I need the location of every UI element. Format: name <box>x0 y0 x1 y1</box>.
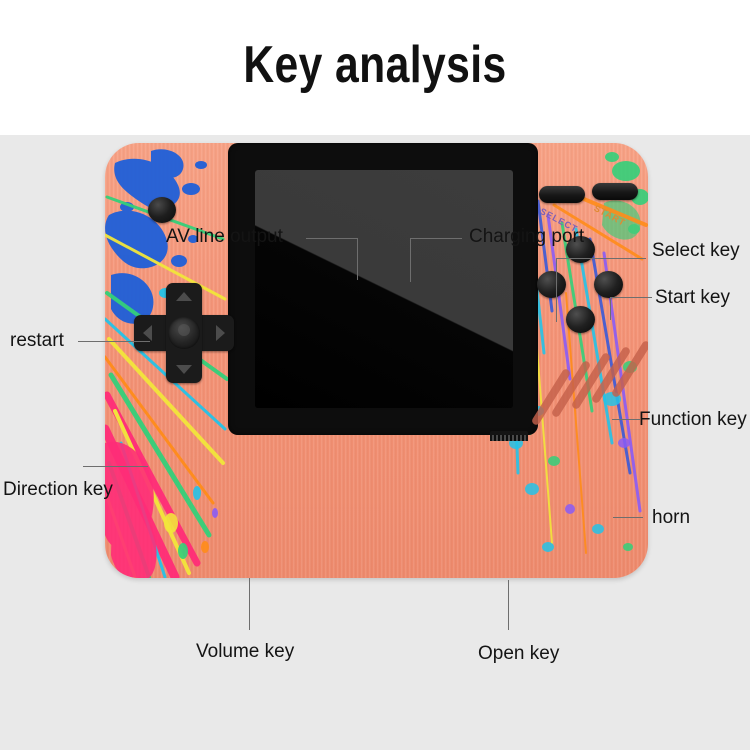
callout-direction-key: Direction key <box>3 480 113 499</box>
leader-open-key-vertical <box>508 580 509 630</box>
function-key-bottom[interactable] <box>566 306 595 333</box>
header-band: Key analysis <box>0 0 750 135</box>
page-title: Key analysis <box>68 38 683 93</box>
start-key-button[interactable] <box>592 183 638 200</box>
dpad-left-arrow-icon[interactable] <box>143 325 152 341</box>
function-key-right[interactable] <box>594 271 623 298</box>
leader-direction-key-horizontal <box>83 466 148 467</box>
leader-start-key-vertical <box>610 297 611 320</box>
callout-open-key: Open key <box>478 644 559 663</box>
leader-horn-horizontal <box>613 517 643 518</box>
dpad-down-arrow-icon[interactable] <box>176 365 192 374</box>
dpad-up-arrow-icon[interactable] <box>176 292 192 301</box>
leader-charging-port-vertical <box>410 238 411 282</box>
leader-select-key-horizontal <box>556 258 646 259</box>
direction-pad[interactable] <box>134 283 234 383</box>
screen-glare <box>255 170 513 408</box>
select-key-button[interactable] <box>539 186 585 203</box>
leader-charging-port-horizontal <box>410 238 462 239</box>
leader-start-key-horizontal <box>610 297 652 298</box>
callout-start-key: Start key <box>655 288 730 307</box>
callout-charging-port: Charging port <box>469 227 584 246</box>
dpad-right-arrow-icon[interactable] <box>216 325 225 341</box>
callout-select-key: Select key <box>652 241 740 260</box>
leader-function-key-horizontal <box>612 419 640 420</box>
function-key-left[interactable] <box>537 271 566 298</box>
callout-function-key: Function key <box>639 410 747 429</box>
callout-restart: restart <box>10 331 64 350</box>
callout-volume-key: Volume key <box>196 642 294 661</box>
dpad-center-hub[interactable] <box>168 317 200 349</box>
page-root: Key analysis <box>0 0 750 750</box>
callout-horn: horn <box>652 508 690 527</box>
leader-av-line-output-horizontal <box>306 238 358 239</box>
leader-select-key-vertical <box>556 258 557 322</box>
handheld-console-body: SELECT START <box>105 143 648 578</box>
open-key-switch[interactable] <box>490 431 528 441</box>
leader-restart-horizontal <box>78 341 150 342</box>
leader-volume-key-vertical <box>249 578 250 630</box>
start-key-silkscreen-label: START <box>592 203 627 228</box>
lcd-screen <box>255 170 513 408</box>
leader-av-line-output-vertical <box>357 238 358 280</box>
callout-av-line-output: AV line output <box>166 227 283 246</box>
restart-button[interactable] <box>148 197 176 223</box>
speaker-horn-grille <box>545 341 648 431</box>
lcd-screen-bezel <box>228 143 538 435</box>
